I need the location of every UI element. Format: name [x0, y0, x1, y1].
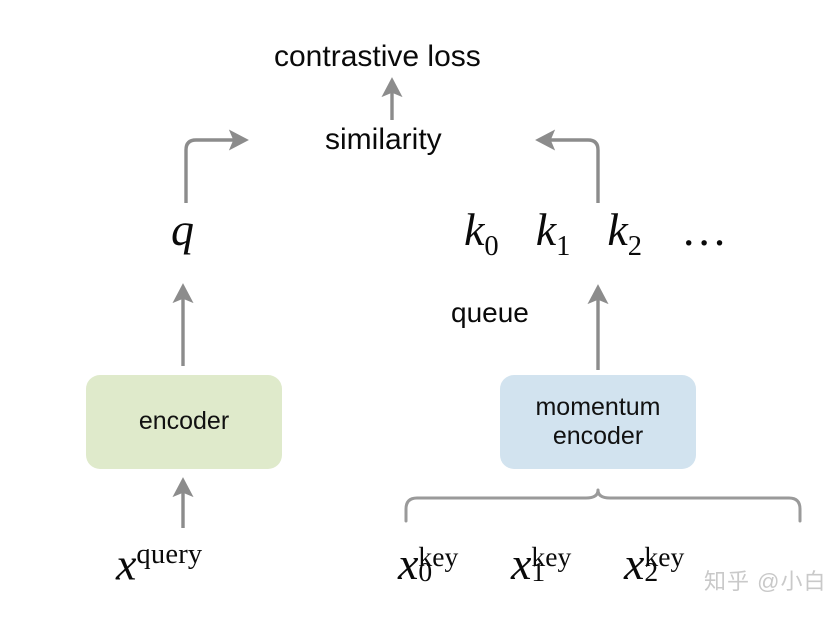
x-query-superscript: query — [136, 539, 202, 570]
k2-base: k — [607, 204, 627, 255]
queue-label: queue — [451, 299, 529, 327]
arrow-q-to-similarity — [186, 140, 236, 203]
x-key-0-symbol: xkeykey0 — [398, 541, 458, 587]
x-key-2-scripts: keykey2 — [644, 541, 684, 587]
x-key-0-scripts: keykey0 — [418, 541, 458, 587]
x-key-2-base: x — [624, 538, 644, 589]
watermark: 知乎 @小白 — [704, 564, 826, 596]
key-symbols-row: k0 k1 k2 … — [464, 207, 727, 262]
x-key-0-subscript: 0 — [418, 558, 432, 586]
momentum-encoder-line-2: encoder — [553, 422, 643, 450]
key-inputs-brace — [406, 490, 800, 521]
q-symbol: q — [171, 207, 194, 253]
momentum-encoder-line-1: momentum — [535, 393, 660, 421]
x-key-1-scripts: keykey1 — [531, 541, 571, 587]
k1-base: k — [536, 204, 556, 255]
x-key-1-base: x — [511, 538, 531, 589]
contrastive-loss-label: contrastive loss — [274, 42, 481, 72]
x-key-0-base: x — [398, 538, 418, 589]
k2-subscript: 2 — [628, 231, 642, 262]
k1-symbol: k1 — [536, 207, 571, 262]
k2-symbol: k2 — [607, 207, 642, 262]
x-query-base: x — [116, 538, 136, 589]
k0-base: k — [464, 204, 484, 255]
x-query-symbol: xquery — [116, 541, 202, 587]
similarity-label: similarity — [325, 125, 442, 155]
encoder-box[interactable]: encoder — [86, 375, 282, 469]
k0-symbol: k0 — [464, 207, 499, 262]
q-symbol-base: q — [171, 204, 194, 255]
x-key-2-symbol: xkeykey2 — [624, 541, 684, 587]
encoder-box-label: encoder — [139, 407, 229, 437]
k1-subscript: 1 — [556, 231, 570, 262]
momentum-encoder-box-label: momentum encoder — [535, 393, 660, 452]
keys-ellipsis: … — [681, 204, 727, 255]
moco-architecture-diagram: contrastive loss similarity queue q k0 k… — [0, 0, 826, 634]
momentum-encoder-box[interactable]: momentum encoder — [500, 375, 696, 469]
arrow-k-to-similarity — [548, 140, 598, 203]
x-key-2-subscript: 2 — [644, 558, 658, 586]
k0-subscript: 0 — [484, 231, 498, 262]
x-key-1-symbol: xkeykey1 — [511, 541, 571, 587]
x-key-1-subscript: 1 — [531, 558, 545, 586]
